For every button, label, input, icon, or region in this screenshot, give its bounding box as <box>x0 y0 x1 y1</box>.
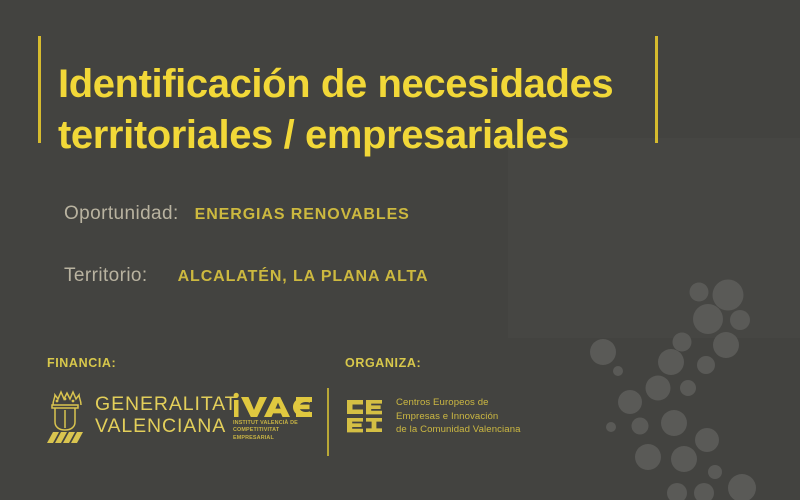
ivace-subtitle-line-1: INSTITUT VALENCIÀ DE <box>233 420 319 427</box>
ceei-descriptor: Centros Europeos de Empresas e Innovació… <box>396 396 521 437</box>
page-title-line-1: Identificación de necesidades <box>58 59 658 110</box>
ivace-subtitle: INSTITUT VALENCIÀ DE COMPETITIVITAT EMPR… <box>233 420 319 442</box>
ivace-subtitle-line-2: COMPETITIVITAT EMPRESARIAL <box>233 427 319 442</box>
ceei-monogram-icon <box>347 399 387 433</box>
slide-canvas: Identificación de necesidades territoria… <box>0 0 800 500</box>
info-value-oportunidad: ENERGIAS RENOVABLES <box>195 206 410 224</box>
ivace-wordmark-icon <box>233 392 313 418</box>
info-label-territorio: Territorio: <box>64 265 148 287</box>
logo-ceei: Centros Europeos de Empresas e Innovació… <box>347 396 521 437</box>
decorative-dot-cluster <box>560 130 800 500</box>
ceei-descriptor-line-3: de la Comunidad Valenciana <box>396 423 521 437</box>
page-title: Identificación de necesidades territoria… <box>58 59 658 161</box>
info-row-territorio: Territorio: ALCALATÉN, LA PLANA ALTA <box>64 265 429 287</box>
logo-ivace: INSTITUT VALENCIÀ DE COMPETITIVITAT EMPR… <box>233 392 319 442</box>
financia-label: FINANCIA: <box>47 356 116 370</box>
valencia-crest-icon <box>44 386 86 444</box>
ceei-descriptor-line-1: Centros Europeos de <box>396 396 521 410</box>
generalitat-line-1: GENERALITAT <box>95 393 237 415</box>
page-title-line-2: territoriales / empresariales <box>58 110 658 161</box>
organiza-label: ORGANIZA: <box>345 356 421 370</box>
logo-generalitat-valenciana: GENERALITAT VALENCIANA <box>44 386 237 444</box>
title-rule-left <box>38 36 41 143</box>
info-label-oportunidad: Oportunidad: <box>64 203 179 225</box>
info-value-territorio: ALCALATÉN, LA PLANA ALTA <box>178 268 429 286</box>
ceei-descriptor-line-2: Empresas e Innovación <box>396 410 521 424</box>
info-row-oportunidad: Oportunidad: ENERGIAS RENOVABLES <box>64 203 410 225</box>
background-panel <box>508 138 800 338</box>
footer-divider <box>327 388 329 456</box>
generalitat-line-2: VALENCIANA <box>95 415 237 437</box>
generalitat-wordmark: GENERALITAT VALENCIANA <box>95 393 237 437</box>
